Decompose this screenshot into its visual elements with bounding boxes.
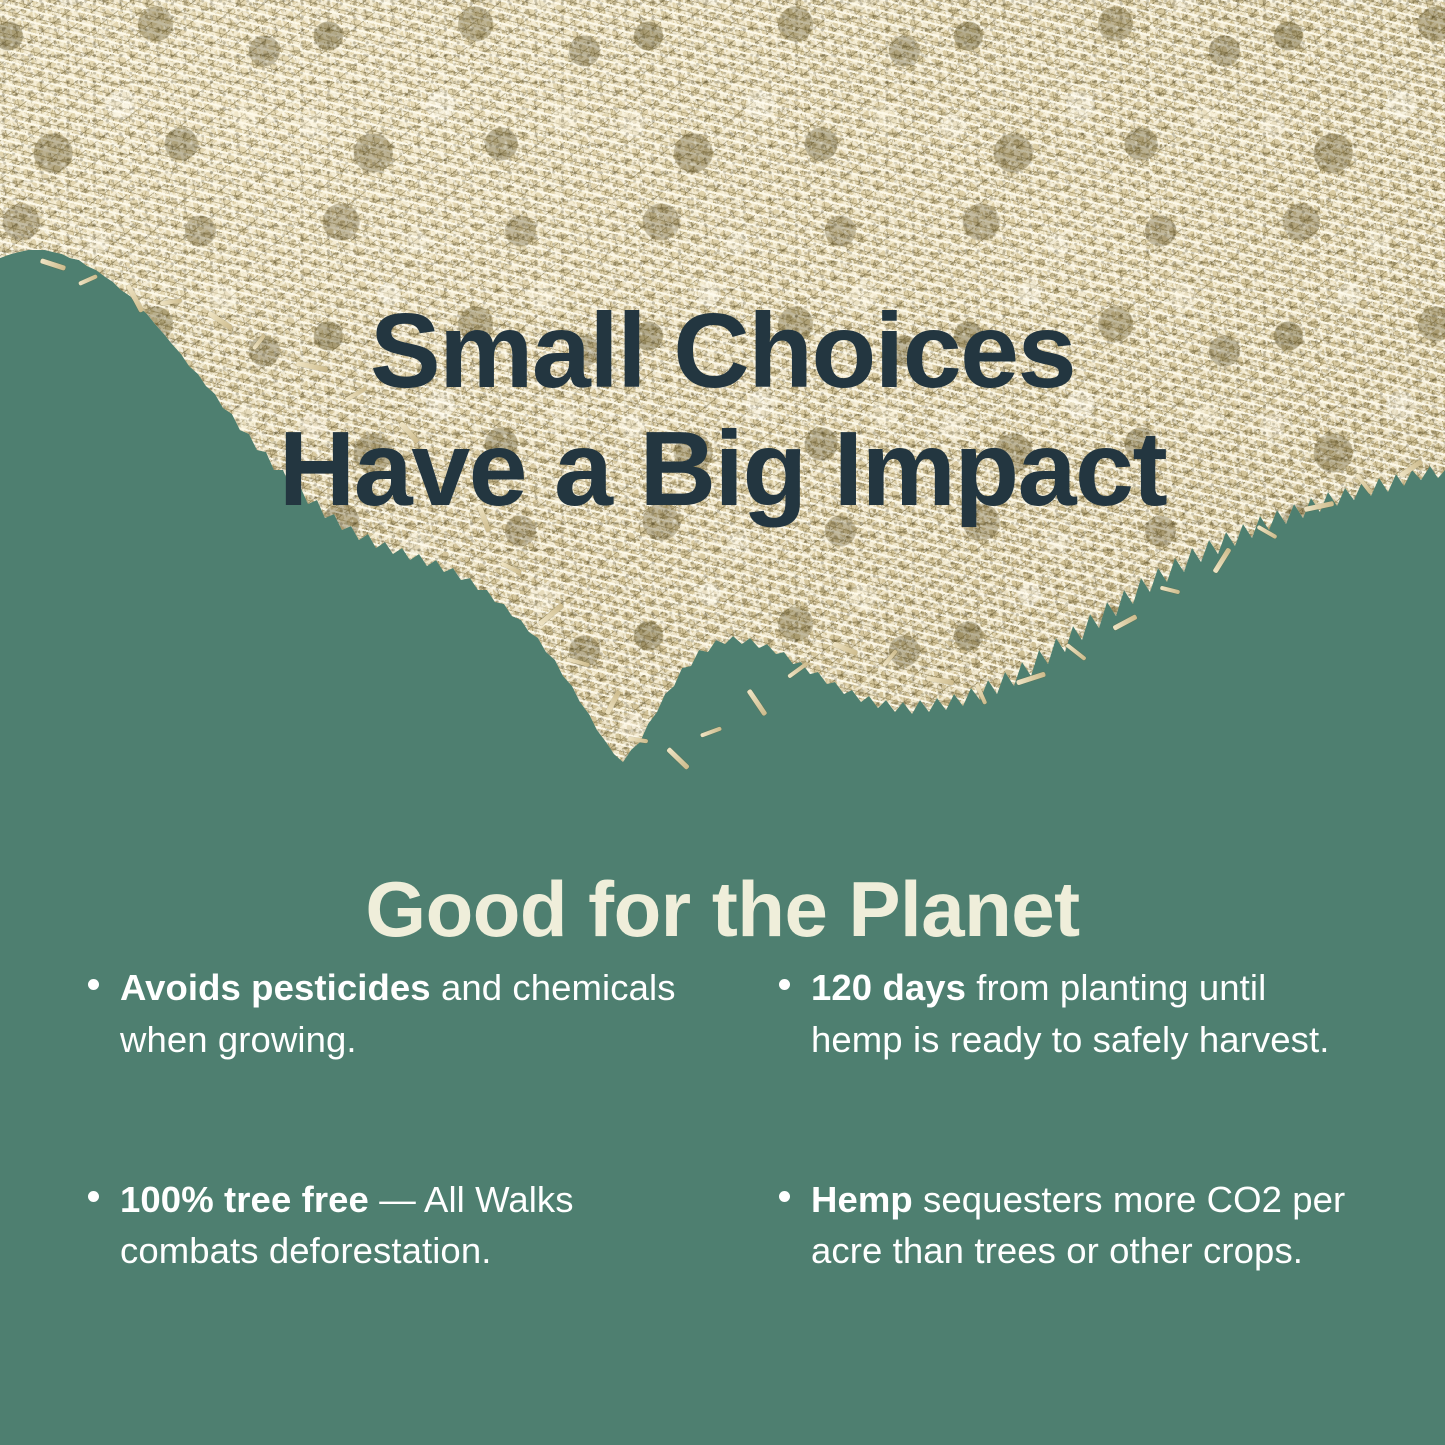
stray-chip (1212, 547, 1231, 573)
bullet-emphasis: Hemp (811, 1179, 913, 1220)
bullet-dot-icon (779, 979, 790, 990)
bullet-dot-icon (88, 979, 99, 990)
bullet-dot-icon (88, 1191, 99, 1202)
stray-chip (700, 726, 722, 737)
bullet-emphasis: 120 days (811, 967, 966, 1008)
stray-chip (40, 258, 66, 271)
stray-chip (1065, 643, 1086, 661)
list-item-tree-free: 100% tree free — All Walks combats defor… (78, 1174, 677, 1278)
stray-chip (78, 274, 98, 286)
benefits-list: Avoids pesticides and chemicals when gro… (78, 962, 1368, 1277)
stray-chip (1160, 586, 1180, 595)
list-item-120-days: 120 days from planting until hemp is rea… (769, 962, 1368, 1066)
stray-chip (1112, 614, 1137, 631)
stray-chip (787, 661, 809, 678)
poster-canvas: Small Choices Have a Big Impact Good for… (0, 0, 1445, 1445)
list-item-avoids-pesticides: Avoids pesticides and chemicals when gro… (78, 962, 677, 1066)
section-subheading: Good for the Planet (0, 865, 1445, 955)
stray-chip (666, 747, 690, 770)
list-item-hemp-co2: Hemp sequesters more CO2 per acre than t… (769, 1174, 1368, 1278)
bullet-emphasis: 100% tree free (120, 1179, 369, 1220)
stray-chip (747, 689, 768, 717)
headline-line-1: Small Choices (0, 293, 1445, 411)
bullet-dot-icon (779, 1191, 790, 1202)
bullet-emphasis: Avoids pesticides (120, 967, 431, 1008)
page-title: Small Choices Have a Big Impact (0, 293, 1445, 528)
headline-line-2: Have a Big Impact (0, 411, 1445, 529)
